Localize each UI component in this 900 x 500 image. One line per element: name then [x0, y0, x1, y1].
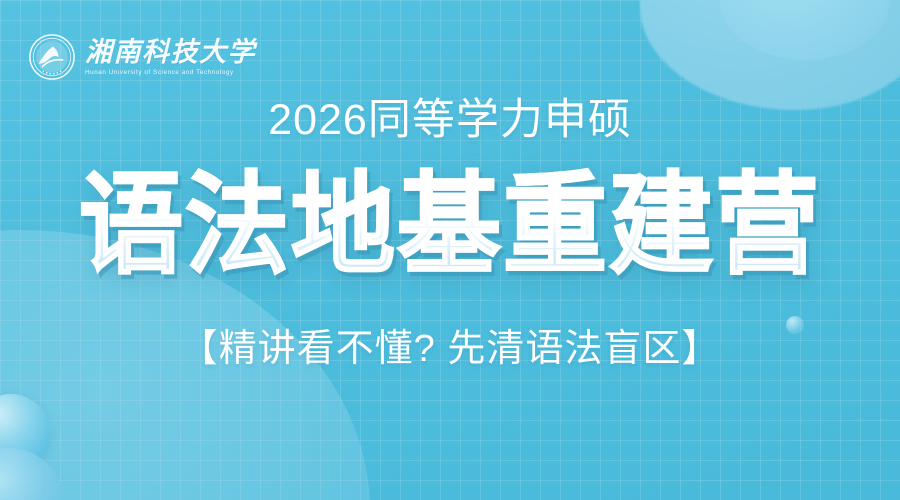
promo-poster: 湘南科技大学 Hunan University of Science and T…: [0, 0, 900, 500]
eyebrow-text: 2026同等学力申硕: [268, 99, 632, 142]
page-title: 语法地基重建营: [79, 171, 821, 281]
subtitle-text: 【精讲看不懂? 先清语法盲区】: [180, 330, 721, 368]
poster-text-stack: 2026同等学力申硕 语法地基重建营 【精讲看不懂? 先清语法盲区】: [0, 0, 900, 500]
